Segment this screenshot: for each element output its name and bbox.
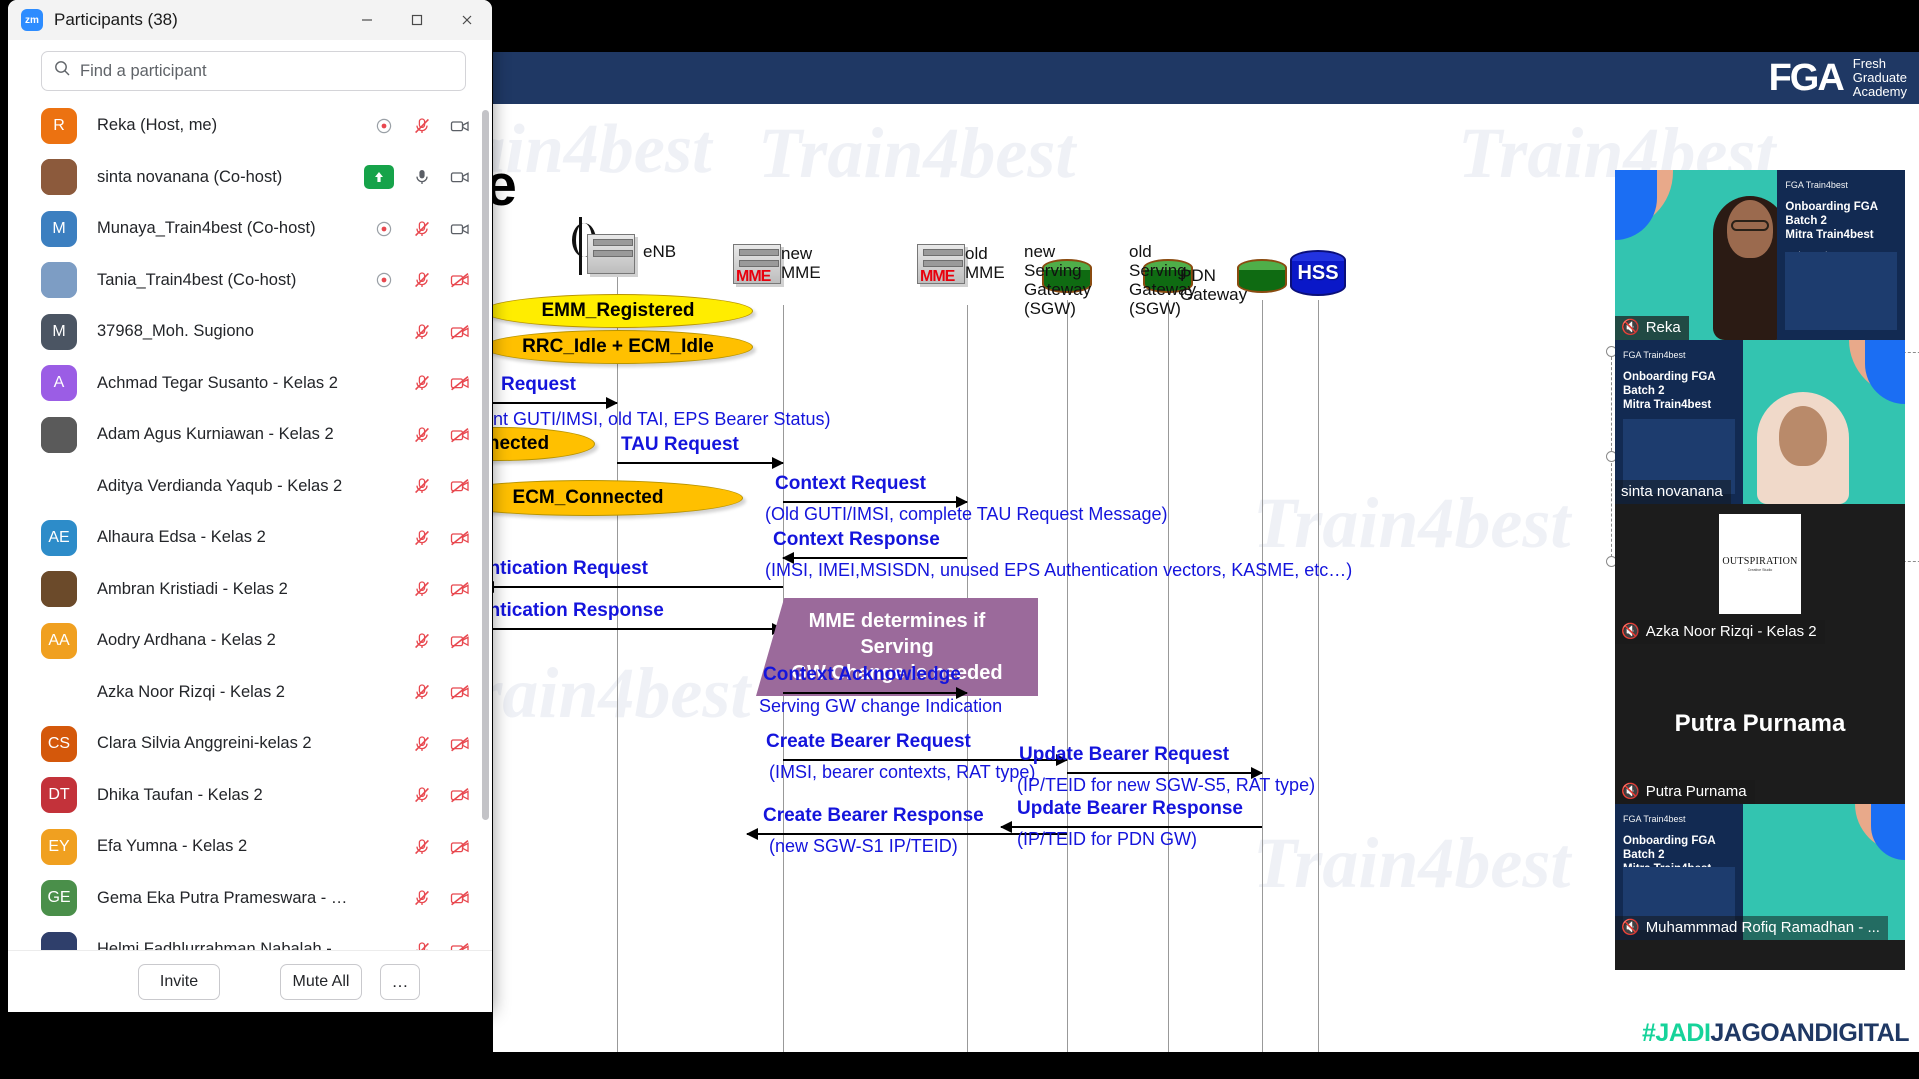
- participant-controls: [373, 476, 470, 497]
- lifeline-hss: [1318, 300, 1319, 1052]
- avatar-photo: [41, 932, 77, 950]
- participant-controls: [373, 888, 470, 909]
- search-area: [8, 40, 492, 100]
- msg-create-bearer-request-sub: (IMSI, bearer contexts, RAT type): [769, 762, 1035, 783]
- avatar-photo: [41, 159, 77, 195]
- status-placeholder-icon: [373, 630, 394, 651]
- watermark-2: Train4best: [758, 112, 1075, 195]
- participant-rows: RReka (Host, me)sinta novanana (Co-host)…: [8, 100, 492, 950]
- fga-logo-words: Fresh Graduate Academy: [1853, 57, 1907, 99]
- participant-controls: [373, 270, 470, 291]
- mic-muted-icon[interactable]: [411, 785, 432, 806]
- reka-poster: FGA Train4best Onboarding FGA Batch 2Mit…: [1777, 170, 1905, 340]
- avatar: [41, 417, 77, 453]
- status-placeholder-icon: [373, 682, 394, 703]
- arrow-context-request: [783, 501, 967, 503]
- participant-row[interactable]: Tania_Train4best (Co-host): [8, 255, 492, 307]
- node-enb: eNB: [573, 220, 635, 274]
- fga-logo-line3: Academy: [1853, 85, 1907, 99]
- video-off-icon[interactable]: [449, 888, 470, 909]
- node-enb-label: eNB: [643, 242, 676, 261]
- recording-icon[interactable]: [373, 270, 394, 291]
- video-off-icon[interactable]: [449, 836, 470, 857]
- avatar: EY: [41, 829, 77, 865]
- hashtag-part-b: JAGOANDIGITAL: [1710, 1019, 1909, 1047]
- mic-muted-icon[interactable]: [411, 733, 432, 754]
- avatar-initials: M: [52, 220, 65, 238]
- msg-context-request-label: Context Request: [775, 473, 926, 495]
- participant-controls: [373, 836, 470, 857]
- window-controls: [342, 0, 492, 40]
- avatar-photo: [41, 571, 77, 607]
- status-placeholder-icon: [373, 527, 394, 548]
- video-off-icon[interactable]: [449, 476, 470, 497]
- video-off-icon[interactable]: [449, 579, 470, 600]
- recording-icon[interactable]: [373, 115, 394, 136]
- participant-controls: [373, 424, 470, 445]
- arrow-update-bearer-response: [1001, 826, 1262, 828]
- avatar: [41, 159, 77, 195]
- outspiration-logo-text: OUTSPIRATION: [1722, 556, 1797, 567]
- poster-title-2: Onboarding FGA Batch 2Mitra Train4best: [1623, 370, 1735, 412]
- avatar: M: [41, 211, 77, 247]
- status-placeholder-icon: [373, 733, 394, 754]
- note-line-1: MME determines if Serving: [770, 608, 1024, 660]
- avatar: [41, 262, 77, 298]
- video-off-icon[interactable]: [449, 785, 470, 806]
- avatar: GE: [41, 880, 77, 916]
- arrow-authentication-response: [493, 628, 783, 630]
- avatar: [41, 468, 77, 504]
- avatar-initials: CS: [48, 735, 70, 753]
- participant-name: Adam Agus Kurniawan - Kelas 2: [97, 425, 353, 444]
- lifeline-enb: [617, 277, 618, 1052]
- outspiration-logo-sub: Creative Studio: [1748, 568, 1773, 572]
- sinta-person-head: [1779, 406, 1827, 466]
- more-options-button[interactable]: …: [380, 964, 420, 1000]
- video-tile-name-sinta: sinta novanana: [1615, 480, 1731, 504]
- video-off-icon[interactable]: [449, 630, 470, 651]
- mic-muted-icon: 🔇: [1621, 784, 1640, 799]
- hashtag-jadijagoandigital: #JADIJAGOANDIGITAL: [1642, 1019, 1909, 1048]
- tile-name-label: Muhammmad Rofiq Ramadhan - ...: [1646, 919, 1880, 936]
- mic-muted-icon[interactable]: [411, 888, 432, 909]
- lifeline-old-sgw: [1168, 300, 1169, 1052]
- video-tile-rofiq[interactable]: FGA Train4best Onboarding FGA Batch 2Mit…: [1615, 804, 1905, 940]
- video-tile-name-reka: 🔇 Reka: [1615, 316, 1689, 340]
- watermark-1: Train4best: [493, 110, 712, 190]
- avatar: A: [41, 365, 77, 401]
- msg-update-bearer-response-sub: (IP/TEID for PDN GW): [1017, 829, 1197, 850]
- status-placeholder-icon: [373, 579, 394, 600]
- mic-muted-icon[interactable]: [411, 476, 432, 497]
- participant-name: Reka (Host, me): [97, 116, 353, 135]
- participant-name: Ambran Kristiadi - Kelas 2: [97, 580, 353, 599]
- mic-muted-icon[interactable]: [411, 682, 432, 703]
- msg-authentication-response-label: entication Response: [493, 600, 664, 622]
- poster-title-1: Onboarding FGA Batch 2Mitra Train4best: [1785, 200, 1897, 242]
- msg-authentication-request-label: entication Request: [493, 558, 648, 580]
- msg-request-label: Request: [501, 374, 576, 396]
- enb-server-icon: [587, 234, 635, 274]
- participant-controls: [364, 165, 470, 189]
- mic-muted-icon: 🔇: [1621, 624, 1640, 639]
- participant-row[interactable]: sinta novanana (Co-host): [8, 152, 492, 204]
- participant-controls: [373, 373, 470, 394]
- arrow-authentication-request: [493, 586, 783, 588]
- avatar-initials: GE: [47, 889, 70, 907]
- video-tile-name-rofiq: 🔇 Muhammmad Rofiq Ramadhan - ...: [1615, 916, 1888, 940]
- msg-update-bearer-request-sub: (IP/TEID for new SGW-S5, RAT type): [1017, 775, 1315, 796]
- mic-muted-icon: 🔇: [1621, 320, 1640, 335]
- participants-titlebar: zm Participants (38): [8, 0, 492, 40]
- avatar: [41, 674, 77, 710]
- poster-illustration-1: [1785, 252, 1897, 330]
- participant-row[interactable]: EYEfa Yumna - Kelas 2: [8, 821, 492, 873]
- poster-logos-3: FGA Train4best: [1623, 813, 1735, 825]
- participant-controls: [373, 115, 470, 136]
- video-on-icon[interactable]: [449, 167, 470, 188]
- search-icon: [54, 60, 71, 82]
- search-box[interactable]: [41, 51, 466, 91]
- participant-name: 37968_Moh. Sugiono: [97, 322, 353, 341]
- invite-button[interactable]: Invite: [138, 964, 220, 1000]
- node-old-mme-label: oldMME: [965, 244, 1005, 282]
- node-new-sgw-label: newServingGateway(SGW): [1024, 242, 1091, 318]
- avatar: CS: [41, 726, 77, 762]
- participants-window: zm Participants (38) RReka (Host, me)sin…: [8, 0, 492, 1012]
- tile-name-label: Azka Noor Rizqi - Kelas 2: [1646, 623, 1817, 640]
- video-on-icon[interactable]: [449, 115, 470, 136]
- video-tile-name-azka: 🔇 Azka Noor Rizqi - Kelas 2: [1615, 620, 1825, 644]
- hashtag-part-a: #JADI: [1642, 1019, 1710, 1047]
- video-off-icon[interactable]: [449, 321, 470, 342]
- participant-name: Efa Yumna - Kelas 2: [97, 837, 353, 856]
- watermark-5: Train4best: [1253, 822, 1570, 905]
- status-placeholder-icon: [373, 836, 394, 857]
- mic-muted-icon: 🔇: [1621, 920, 1640, 935]
- avatar: R: [41, 108, 77, 144]
- tile-name-label: Reka: [1646, 319, 1681, 336]
- raise-hand-icon[interactable]: [364, 165, 394, 189]
- state-ecm-connected: ECM_Connected: [493, 480, 743, 516]
- avatar-photo: [41, 468, 77, 504]
- participant-name: Achmad Tegar Susanto - Kelas 2: [97, 374, 353, 393]
- participant-name: Clara Silvia Anggreini-kelas 2: [97, 734, 353, 753]
- arrow-request: [493, 402, 617, 404]
- participant-controls: [373, 733, 470, 754]
- msg-context-response-sub: (IMSI, IMEI,MSISDN, unused EPS Authentic…: [765, 560, 1352, 581]
- msg-context-acknowledge-label: Context Acknowledge: [763, 664, 961, 686]
- participant-controls: [373, 527, 470, 548]
- participant-row[interactable]: Azka Noor Rizqi - Kelas 2: [8, 667, 492, 719]
- participant-row[interactable]: M37968_Moh. Sugiono: [8, 306, 492, 358]
- recording-icon[interactable]: [373, 218, 394, 239]
- status-placeholder-icon: [373, 939, 394, 950]
- msg-tau-request-label: TAU Request: [621, 434, 739, 456]
- participant-name: Gema Eka Putra Prameswara - kelas 2: [97, 889, 353, 908]
- avatar: [41, 571, 77, 607]
- avatar-initials: EY: [48, 838, 69, 856]
- mic-muted-icon[interactable]: [411, 218, 432, 239]
- participant-controls: [373, 579, 470, 600]
- status-placeholder-icon: [373, 476, 394, 497]
- mic-muted-icon[interactable]: [411, 270, 432, 291]
- fga-logo-mark: FGA: [1769, 59, 1843, 97]
- avatar-initials: M: [52, 323, 65, 341]
- video-off-icon[interactable]: [449, 527, 470, 548]
- status-placeholder-icon: [373, 321, 394, 342]
- participant-row[interactable]: Ambran Kristiadi - Kelas 2: [8, 564, 492, 616]
- old-mme-server-icon: MME: [917, 244, 965, 284]
- participants-list[interactable]: RReka (Host, me)sinta novanana (Co-host)…: [8, 100, 492, 950]
- mic-muted-icon[interactable]: [411, 115, 432, 136]
- participant-controls: [373, 682, 470, 703]
- mic-muted-icon[interactable]: [411, 321, 432, 342]
- msg-update-bearer-response-label: Update Bearer Response: [1017, 798, 1243, 820]
- node-hss: HSS: [1290, 250, 1346, 296]
- slide-title: edure: [493, 152, 516, 219]
- participant-row[interactable]: Helmi Fadhlurrahman Nabalah -Kelas 2: [8, 924, 492, 950]
- node-new-sgw: newServingGateway(SGW): [1042, 259, 1092, 293]
- participant-row[interactable]: AEAlhaura Edsa - Kelas 2: [8, 512, 492, 564]
- putra-display-name: Putra Purnama: [1675, 710, 1846, 738]
- video-off-icon[interactable]: [449, 733, 470, 754]
- lifeline-new-sgw: [1067, 300, 1068, 1052]
- mic-muted-icon[interactable]: [411, 424, 432, 445]
- avatar: DT: [41, 777, 77, 813]
- close-icon[interactable]: [442, 0, 492, 40]
- participant-name: sinta novanana (Co-host): [97, 168, 344, 187]
- avatar-initials: AA: [48, 632, 69, 650]
- msg-request-sub: ent GUTI/IMSI, old TAI, EPS Bearer Statu…: [493, 409, 830, 430]
- avatar: AA: [41, 623, 77, 659]
- participant-name: Alhaura Edsa - Kelas 2: [97, 528, 353, 547]
- mic-muted-icon[interactable]: [411, 939, 432, 950]
- avatar-initials: A: [54, 374, 65, 392]
- status-placeholder-icon: [373, 888, 394, 909]
- participants-window-title: Participants (38): [54, 10, 178, 30]
- avatar-photo: [41, 262, 77, 298]
- msg-update-bearer-request-label: Update Bearer Request: [1019, 744, 1229, 766]
- participant-name: Aodry Ardhana - Kelas 2: [97, 631, 353, 650]
- video-off-icon[interactable]: [449, 270, 470, 291]
- participant-name: Munaya_Train4best (Co-host): [97, 219, 353, 238]
- participant-row[interactable]: CSClara Silvia Anggreini-kelas 2: [8, 718, 492, 770]
- participant-row[interactable]: Adam Agus Kurniawan - Kelas 2: [8, 409, 492, 461]
- video-tile-sinta[interactable]: FGA Train4best Onboarding FGA Batch 2Mit…: [1615, 340, 1905, 504]
- video-off-icon[interactable]: [449, 682, 470, 703]
- participant-controls: [373, 785, 470, 806]
- video-off-icon[interactable]: [449, 373, 470, 394]
- node-pgw-label: PDNGateway: [1180, 266, 1247, 304]
- participants-footer: Invite Mute All …: [8, 950, 492, 1012]
- participant-name: Azka Noor Rizqi - Kelas 2: [97, 683, 353, 702]
- video-tile-azka[interactable]: OUTSPIRATION Creative Studio 🔇 Azka Noor…: [1615, 504, 1905, 644]
- participants-scrollbar[interactable]: [482, 100, 489, 854]
- msg-context-response-label: Context Response: [773, 529, 940, 551]
- avatar-initials: AE: [48, 529, 69, 547]
- participant-row[interactable]: AAAodry Ardhana - Kelas 2: [8, 615, 492, 667]
- participant-name: Aditya Verdianda Yaqub - Kelas 2: [97, 477, 353, 496]
- msg-context-request-sub: (Old GUTI/IMSI, complete TAU Request Mes…: [765, 504, 1167, 525]
- video-tile-putra[interactable]: Putra Purnama 🔇 Putra Purnama: [1615, 644, 1905, 804]
- participant-controls: [373, 321, 470, 342]
- status-placeholder-icon: [373, 785, 394, 806]
- new-mme-server-icon: MME: [733, 244, 781, 284]
- avatar-initials: DT: [48, 786, 69, 804]
- status-placeholder-icon: [373, 373, 394, 394]
- participant-controls: [373, 939, 470, 950]
- old-mme-tag: MME: [920, 268, 954, 286]
- arrow-tau-request: [617, 462, 783, 464]
- reka-glasses: [1731, 220, 1769, 231]
- participant-row[interactable]: GEGema Eka Putra Prameswara - kelas 2: [8, 873, 492, 925]
- node-pgw: PDNGateway: [1237, 259, 1287, 293]
- azka-logo-card: OUTSPIRATION Creative Studio: [1719, 514, 1801, 614]
- poster-logos-2: FGA Train4best: [1623, 349, 1735, 361]
- fga-logo-line2: Graduate: [1853, 71, 1907, 85]
- avatar: AE: [41, 520, 77, 556]
- fga-logo: FGA Fresh Graduate Academy: [1769, 56, 1907, 100]
- poster-logos-1: FGA Train4best: [1785, 179, 1897, 191]
- mic-muted-icon[interactable]: [411, 373, 432, 394]
- msg-create-bearer-request-label: Create Bearer Request: [766, 731, 971, 753]
- mic-muted-icon[interactable]: [411, 527, 432, 548]
- tile-name-label: sinta novanana: [1621, 483, 1723, 500]
- mic-muted-icon[interactable]: [411, 630, 432, 651]
- msg-context-acknowledge-sub: Serving GW change Indication: [759, 696, 1002, 717]
- node-new-mme-label: newMME: [781, 244, 821, 282]
- node-old-mme: MME oldMME: [917, 244, 965, 284]
- slide-header-banner: FGA Fresh Graduate Academy: [493, 52, 1919, 104]
- participant-row[interactable]: Aditya Verdianda Yaqub - Kelas 2: [8, 461, 492, 513]
- avatar: M: [41, 314, 77, 350]
- tile-name-label: Putra Purnama: [1646, 783, 1747, 800]
- avatar-photo: [41, 417, 77, 453]
- scrollbar-thumb[interactable]: [482, 110, 489, 820]
- state-emm-registered: EMM_Registered: [493, 294, 753, 328]
- arrow-context-acknowledge: [783, 692, 967, 694]
- participant-row[interactable]: AAchmad Tegar Susanto - Kelas 2: [8, 358, 492, 410]
- mic-muted-icon[interactable]: [411, 836, 432, 857]
- state-rrc-idle-ecm-idle: RRC_Idle + ECM_Idle: [493, 330, 753, 364]
- node-new-mme: MME newMME: [733, 244, 781, 284]
- arrow-update-bearer-request: [1067, 772, 1262, 774]
- status-placeholder-icon: [373, 424, 394, 445]
- participant-name: Helmi Fadhlurrahman Nabalah -Kelas 2: [97, 940, 353, 950]
- avatar-photo: [41, 674, 77, 710]
- video-on-icon[interactable]: [449, 218, 470, 239]
- participant-row[interactable]: MMunaya_Train4best (Co-host): [8, 203, 492, 255]
- video-off-icon[interactable]: [449, 939, 470, 950]
- msg-create-bearer-response-label: Create Bearer Response: [763, 805, 984, 827]
- search-input[interactable]: [80, 62, 453, 81]
- state-connected: Connected: [493, 427, 595, 461]
- msg-create-bearer-response-sub: (new SGW-S1 IP/TEID): [769, 836, 958, 857]
- hss-db-icon: HSS: [1290, 250, 1346, 296]
- participant-name: Dhika Taufan - Kelas 2: [97, 786, 353, 805]
- watermark-6: Train4best: [493, 652, 750, 735]
- zoom-app-icon: zm: [21, 9, 43, 31]
- participant-row[interactable]: DTDhika Taufan - Kelas 2: [8, 770, 492, 822]
- avatar-initials: R: [53, 117, 65, 135]
- video-thumbnail-strip: FGA Train4best Onboarding FGA Batch 2Mit…: [1615, 170, 1905, 970]
- avatar: [41, 932, 77, 950]
- video-tile-name-putra: 🔇 Putra Purnama: [1615, 780, 1755, 804]
- video-tile-reka[interactable]: FGA Train4best Onboarding FGA Batch 2Mit…: [1615, 170, 1905, 340]
- fga-logo-line1: Fresh: [1853, 57, 1907, 71]
- mute-all-button[interactable]: Mute All: [280, 964, 362, 1000]
- mic-muted-icon[interactable]: [411, 579, 432, 600]
- participant-name: Tania_Train4best (Co-host): [97, 271, 353, 290]
- arrow-context-response: [783, 557, 967, 559]
- mic-on-icon[interactable]: [411, 167, 432, 188]
- lifeline-pgw: [1262, 300, 1263, 1052]
- participant-controls: [373, 218, 470, 239]
- minimize-icon[interactable]: [342, 0, 392, 40]
- maximize-icon[interactable]: [392, 0, 442, 40]
- video-off-icon[interactable]: [449, 424, 470, 445]
- participant-controls: [373, 630, 470, 651]
- watermark-4: Train4best: [1253, 482, 1570, 565]
- participant-row[interactable]: RReka (Host, me): [8, 100, 492, 152]
- new-mme-tag: MME: [736, 268, 770, 286]
